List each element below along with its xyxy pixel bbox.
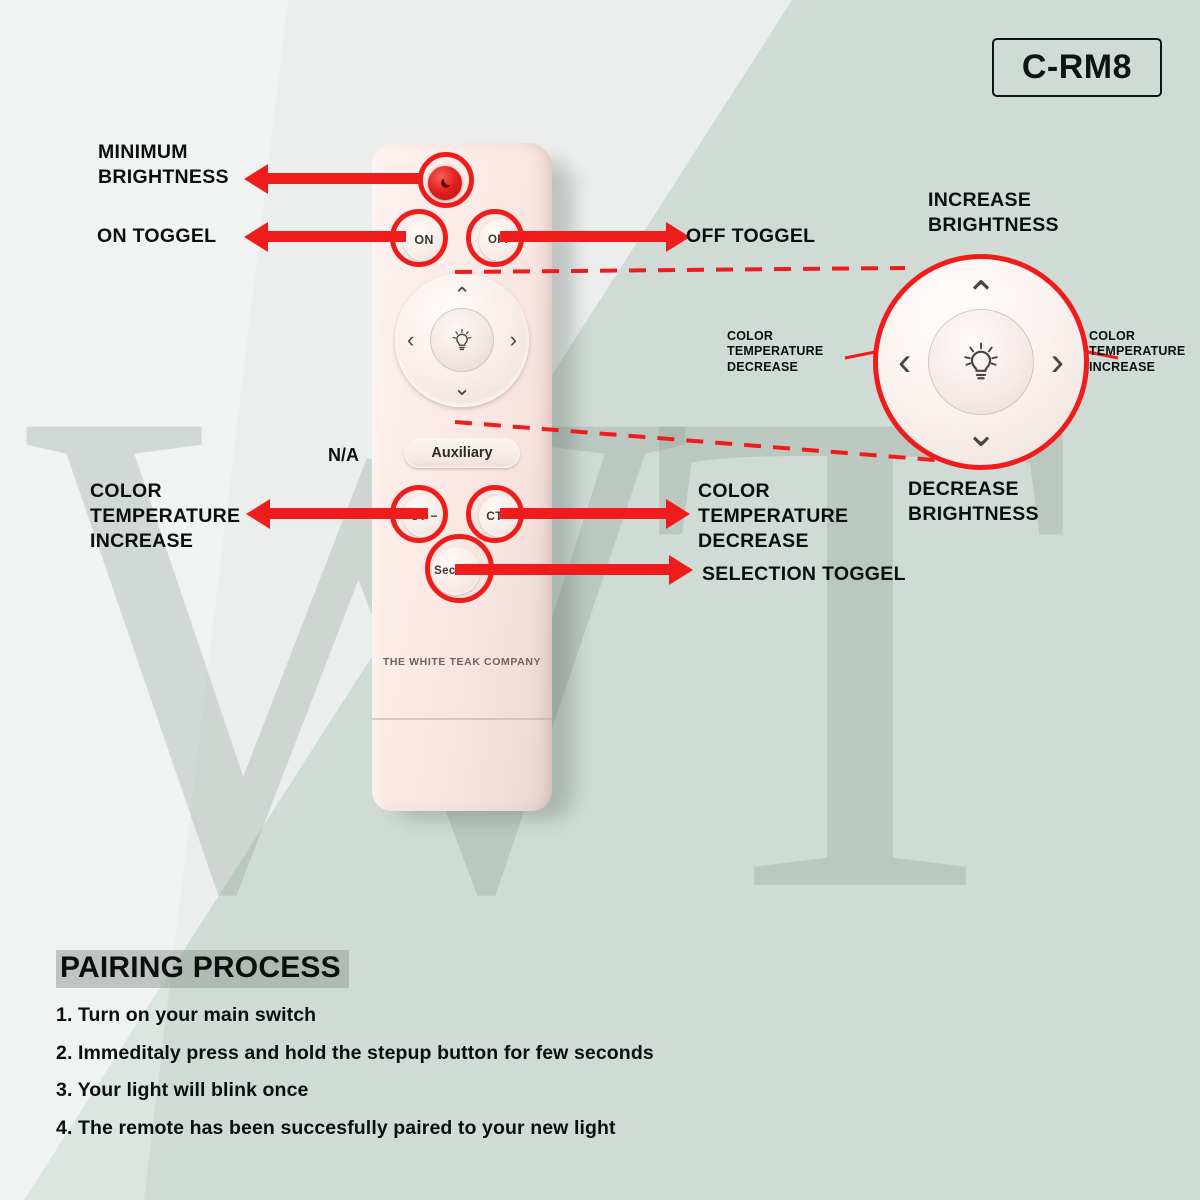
label-on-toggel: ON TOGGEL: [97, 224, 216, 249]
dpad-up-icon[interactable]: ⌃: [453, 285, 471, 306]
light-bulb-icon: [959, 340, 1003, 384]
label-color-temperature-increase-left: COLOR TEMPERATURE INCREASE: [90, 479, 240, 554]
pairing-process-title: PAIRING PROCESS: [56, 950, 349, 988]
arrow-minimum-brightness: [266, 173, 422, 184]
dpad-left-icon[interactable]: ‹: [407, 329, 414, 351]
label-increase-brightness: INCREASE BRIGHTNESS: [928, 188, 1059, 238]
arrow-color-temperature-decrease: [500, 508, 668, 519]
pairing-process-list: 1. Turn on your main switch 2. Immedital…: [56, 1004, 956, 1154]
label-color-temperature-decrease-right: COLOR TEMPERATURE DECREASE: [698, 479, 848, 554]
arrow-off-toggel: [500, 231, 668, 242]
dpad-ring[interactable]: ⌃ ⌄ ‹ ›: [395, 273, 529, 407]
magnifier-center-button[interactable]: [928, 309, 1034, 415]
dpad-down-icon[interactable]: ⌄: [453, 378, 471, 399]
pairing-step: 4. The remote has been succesfully paire…: [56, 1117, 956, 1140]
dpad-right-icon[interactable]: ›: [510, 329, 517, 351]
dpad-center-button[interactable]: [430, 308, 494, 372]
label-decrease-brightness: DECREASE BRIGHTNESS: [908, 477, 1039, 527]
label-off-toggel: OFF TOGGEL: [686, 224, 815, 249]
pairing-step: 3. Your light will blink once: [56, 1079, 956, 1102]
magnifier-circle: ⌃ ⌄ ‹ ›: [873, 254, 1089, 470]
magnifier-down-icon[interactable]: ⌄: [965, 415, 997, 453]
label-color-temperature-decrease-magnifier: COLOR TEMPERATURE DECREASE: [727, 329, 823, 375]
remote-brand-text: THE WHITE TEAK COMPANY: [372, 656, 552, 668]
ring-night-button: [418, 152, 474, 208]
pairing-step: 1. Turn on your main switch: [56, 1004, 956, 1027]
auxiliary-button[interactable]: Auxiliary: [404, 438, 520, 468]
label-minimum-brightness: MINIMUM BRIGHTNESS: [98, 140, 229, 190]
remote-battery-seam: [372, 718, 552, 720]
label-selection-toggel: SELECTION TOGGEL: [702, 562, 906, 587]
model-badge: C-RM8: [992, 38, 1162, 97]
label-na: N/A: [328, 445, 359, 466]
pairing-step: 2. Immeditaly press and hold the stepup …: [56, 1042, 956, 1065]
magnifier-left-icon[interactable]: ‹: [898, 342, 911, 382]
arrow-selection-toggel: [455, 564, 671, 575]
label-color-temperature-increase-magnifier: COLOR TEMPERATURE INCREASE: [1089, 329, 1185, 375]
light-bulb-icon: [449, 327, 475, 353]
arrow-on-toggel: [266, 231, 406, 242]
infographic-canvas: WT C-RM8 ON OFF ⌃ ⌄ ‹ ›: [0, 0, 1200, 1200]
magnifier-right-icon[interactable]: ›: [1051, 342, 1064, 382]
arrow-color-temperature-increase: [268, 508, 428, 519]
dpad-magnifier: ⌃ ⌄ ‹ ›: [873, 254, 1089, 470]
